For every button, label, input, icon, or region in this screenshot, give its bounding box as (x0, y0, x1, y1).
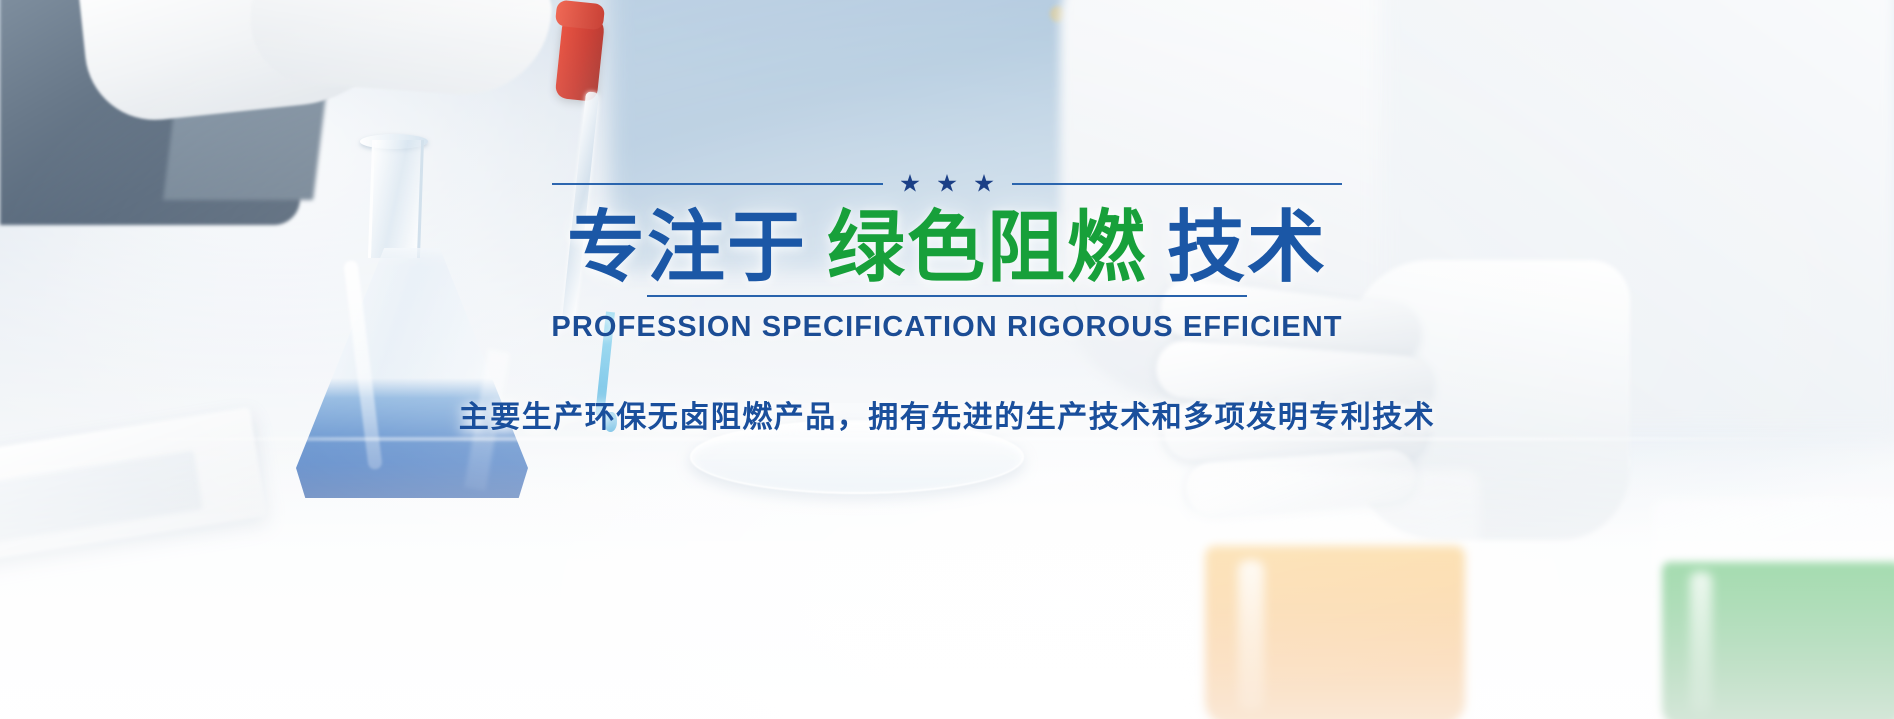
headline-underline (647, 295, 1247, 297)
star-group (883, 174, 1012, 193)
star-icon (975, 174, 994, 193)
headline: 专注于绿色阻燃技术 (567, 205, 1327, 289)
star-icon (938, 174, 957, 193)
banner-content: 专注于绿色阻燃技术 PROFESSION SPECIFICATION RIGOR… (0, 0, 1894, 719)
divider-rule-right (1012, 183, 1343, 185)
headline-part-2: 绿色阻燃 (827, 203, 1147, 291)
star-icon (901, 174, 920, 193)
hero-banner: 专注于绿色阻燃技术 PROFESSION SPECIFICATION RIGOR… (0, 0, 1894, 719)
divider-rule-left (552, 183, 883, 185)
tagline-chinese: 主要生产环保无卤阻燃产品，拥有先进的生产技术和多项发明专利技术 (459, 392, 1436, 436)
subtitle-english: PROFESSION SPECIFICATION RIGOROUS EFFICI… (551, 311, 1342, 344)
headline-part-1: 专注于 (567, 203, 807, 291)
decorative-divider (552, 174, 1342, 193)
headline-part-3: 技术 (1167, 203, 1327, 291)
